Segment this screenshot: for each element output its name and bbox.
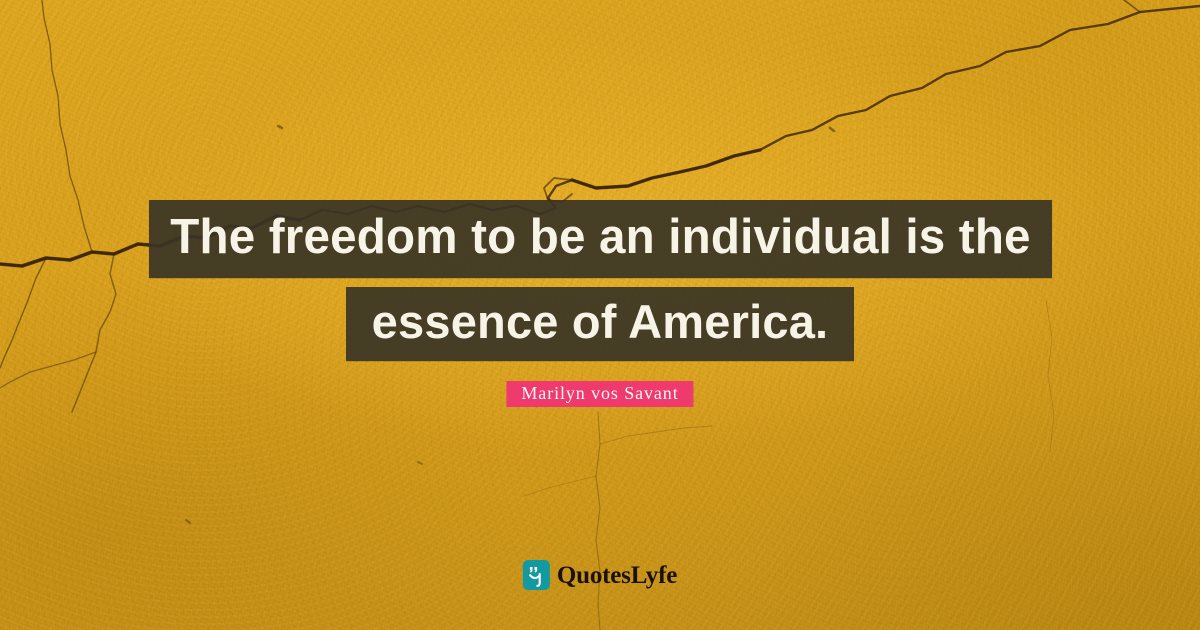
- quote-card: The freedom to be an individual is the e…: [0, 0, 1200, 630]
- quote-block: The freedom to be an individual is the e…: [0, 200, 1200, 361]
- quote-line-1: The freedom to be an individual is the: [148, 200, 1051, 278]
- author-badge: Marilyn vos Savant: [506, 381, 693, 407]
- quote-line-2: essence of America.: [346, 287, 855, 361]
- quote-smiley-icon: [523, 560, 550, 590]
- brand-logo[interactable]: QuotesLyfe: [523, 560, 677, 590]
- brand-name: QuotesLyfe: [557, 562, 677, 589]
